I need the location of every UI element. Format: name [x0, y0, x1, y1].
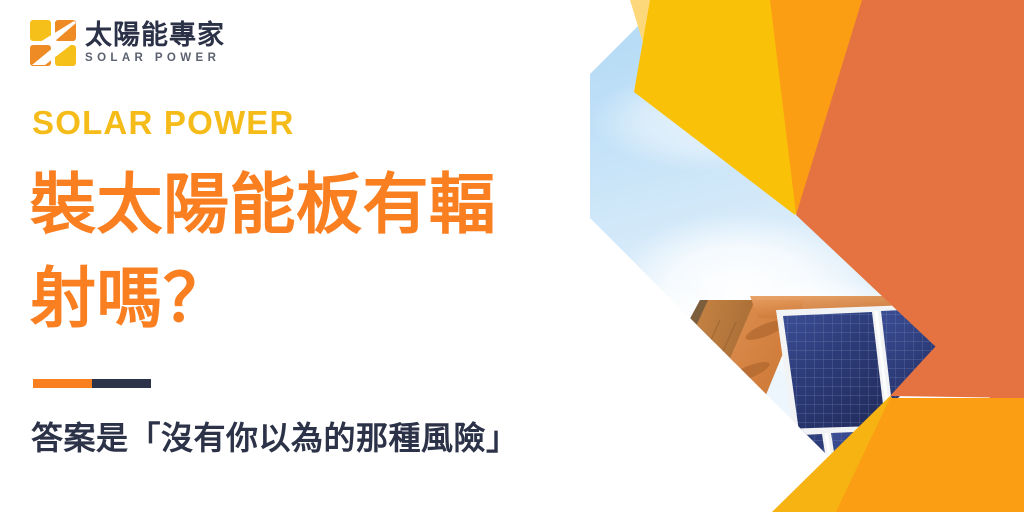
- headline-line-2: 射嗎？: [30, 252, 610, 346]
- solar-z-square-logo-icon: [30, 20, 76, 66]
- hero-eyebrow: SOLAR POWER: [32, 104, 295, 142]
- accent-divider: [33, 379, 151, 388]
- brand-name-en: SOLAR POWER: [85, 53, 225, 65]
- hero-subtitle: 答案是「沒有你以為的那種風險」: [31, 413, 519, 459]
- headline-line-1: 裝太陽能板有輻: [30, 158, 610, 252]
- brand-logo[interactable]: 太陽能專家 SOLAR POWER: [30, 20, 225, 66]
- brand-name-cn: 太陽能專家: [85, 22, 225, 49]
- solar-power-hero-banner: 太陽能專家 SOLAR POWER SOLAR POWER 裝太陽能板有輻 射嗎…: [0, 0, 1024, 512]
- hero-artwork: [590, 0, 1024, 512]
- hero-content: 太陽能專家 SOLAR POWER SOLAR POWER 裝太陽能板有輻 射嗎…: [0, 0, 620, 512]
- hero-headline: 裝太陽能板有輻 射嗎？: [30, 158, 610, 345]
- divider-segment-orange: [33, 379, 92, 388]
- divider-segment-navy: [92, 379, 151, 388]
